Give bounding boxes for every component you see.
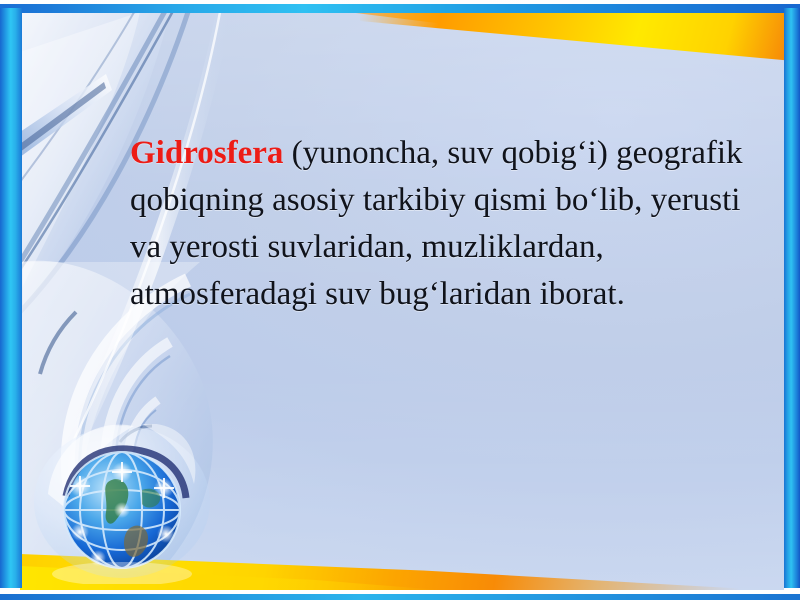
frame-bottom-blue-border	[0, 594, 800, 600]
keyword-gidrosfera: Gidrosfera	[130, 135, 283, 171]
presentation-slide: Gidrosfera (yunoncha, suv qobigʻi) geogr…	[0, 0, 800, 600]
frame-right-blue-border	[784, 8, 800, 588]
slide-body-text: Gidrosfera (yunoncha, suv qobigʻi) geogr…	[130, 130, 760, 318]
slide-canvas: Gidrosfera (yunoncha, suv qobigʻi) geogr…	[20, 12, 784, 590]
frame-left-blue-border	[0, 8, 22, 588]
slide-paragraph: Gidrosfera (yunoncha, suv qobigʻi) geogr…	[130, 130, 760, 318]
globe-icon	[34, 424, 234, 584]
top-orange-band-highlight	[360, 12, 784, 62]
frame-top-blue-border	[0, 4, 800, 13]
